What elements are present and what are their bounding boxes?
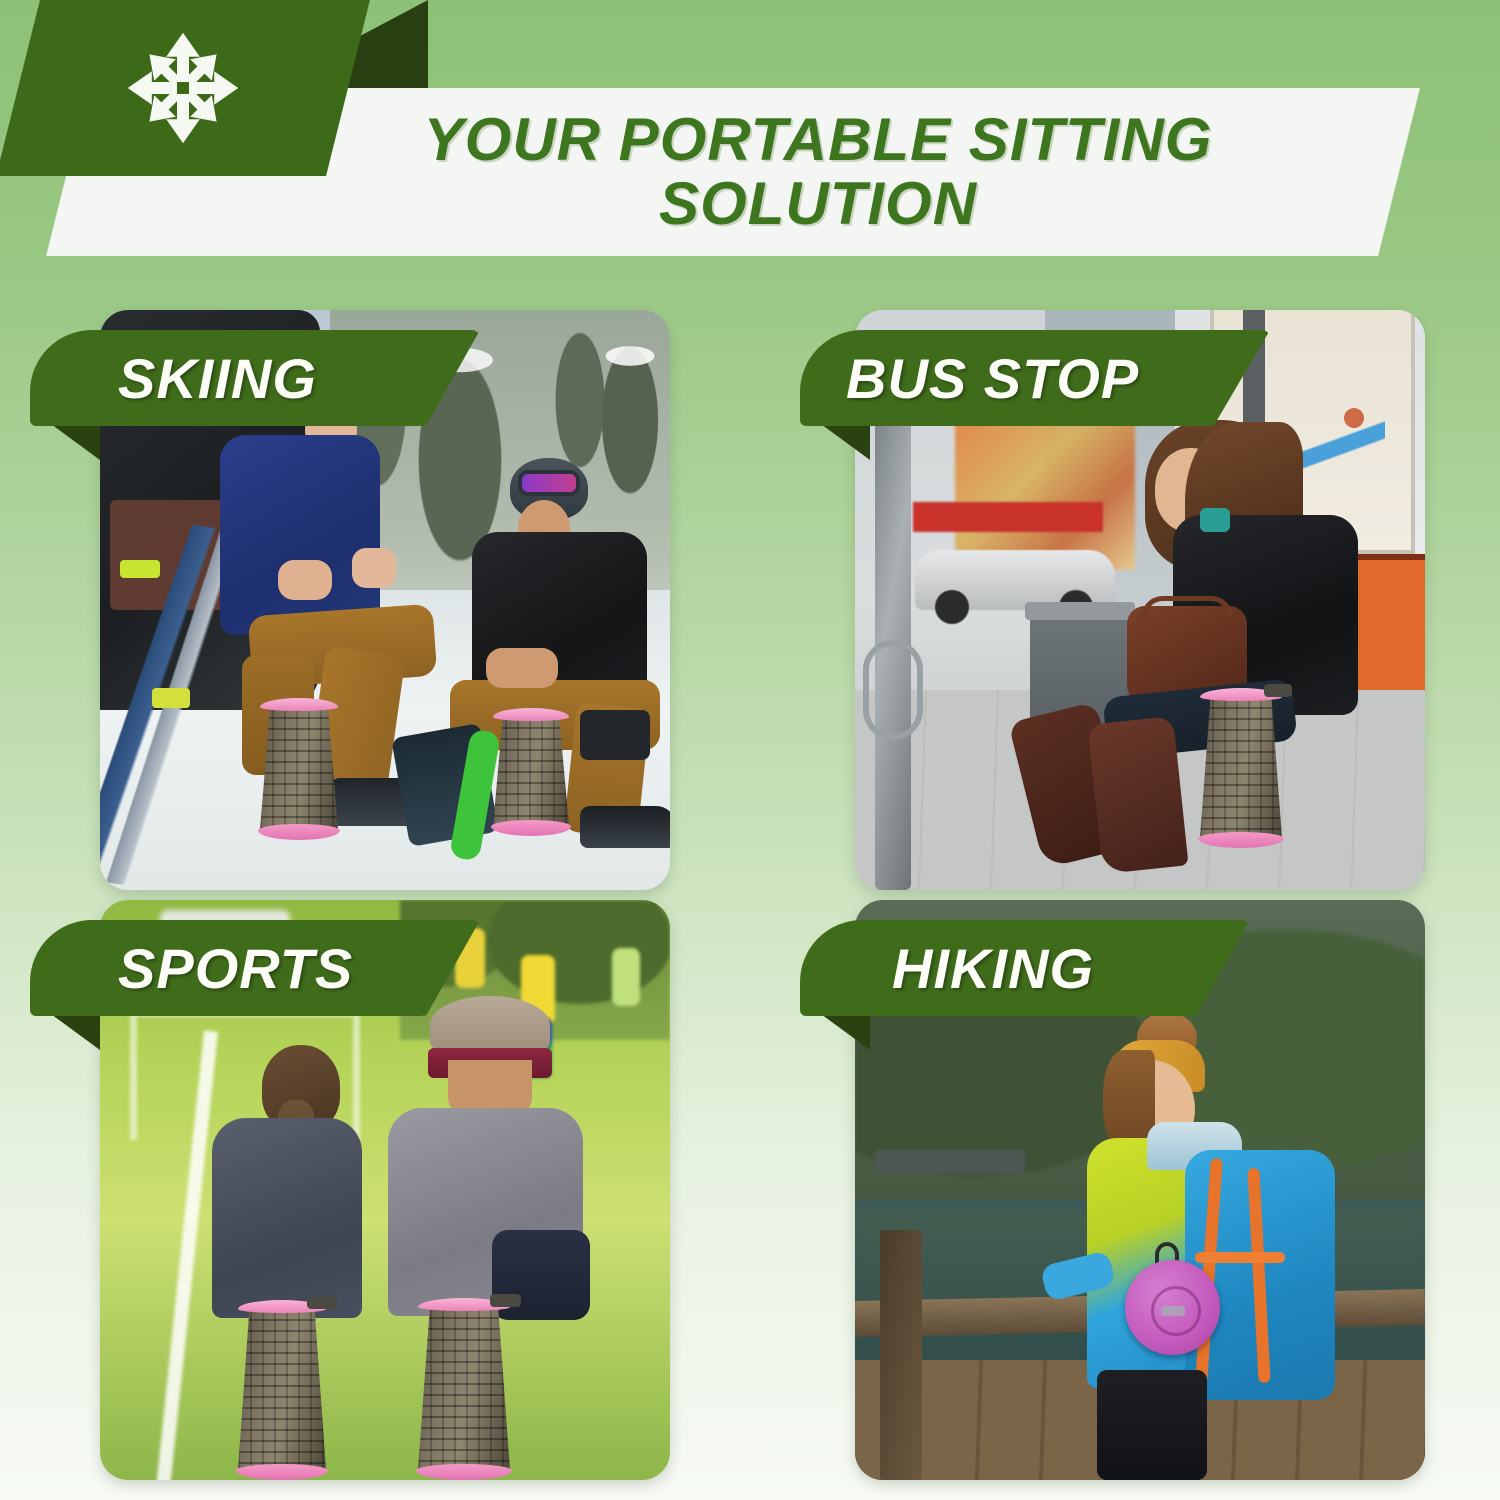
label-shape-hiking: HIKING (800, 920, 1250, 1016)
label-text-sports: SPORTS (30, 936, 353, 1001)
stool-product (238, 1300, 326, 1480)
stool-product (493, 708, 569, 836)
label-sports: SPORTS (30, 920, 480, 1016)
stool-collapsed-disc (1125, 1260, 1220, 1355)
label-shape-skiing: SKIING (30, 330, 480, 426)
use-case-grid (0, 270, 1500, 1500)
stool-product (418, 1298, 510, 1480)
label-shape-bus-stop: BUS STOP (800, 330, 1270, 426)
header: YOUR PORTABLE SITTING SOLUTION (0, 0, 1500, 270)
label-shape-sports: SPORTS (30, 920, 480, 1016)
stool-product (1200, 688, 1282, 848)
label-text-skiing: SKIING (30, 346, 317, 411)
label-bus-stop: BUS STOP (800, 330, 1270, 426)
label-hiking: HIKING (800, 920, 1250, 1016)
label-text-hiking: HIKING (800, 936, 1094, 1001)
header-badge (0, 0, 370, 176)
page-title: YOUR PORTABLE SITTING SOLUTION (288, 108, 1348, 236)
move-arrows-icon (123, 28, 243, 148)
label-skiing: SKIING (30, 330, 480, 426)
label-text-bus-stop: BUS STOP (800, 346, 1139, 411)
stool-product (260, 698, 338, 840)
